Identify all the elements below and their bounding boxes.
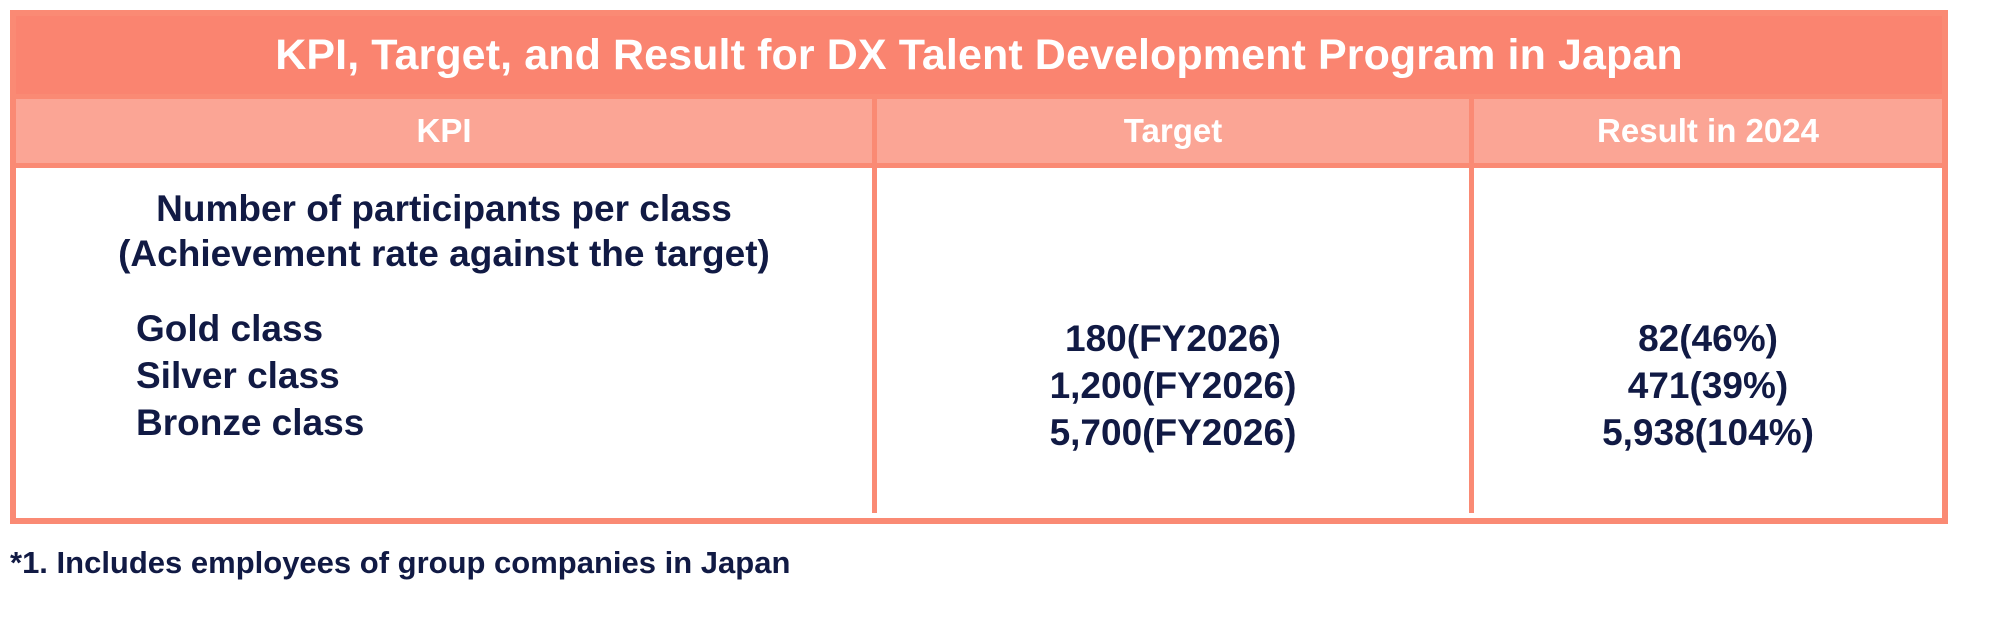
kpi-table-page: KPI, Target, and Result for DX Talent De… bbox=[0, 0, 2000, 622]
kpi-heading: Number of participants per class (Achiev… bbox=[16, 168, 872, 276]
table-title: KPI, Target, and Result for DX Talent De… bbox=[16, 16, 1942, 94]
table-header-row: KPI Target Result in 2024 bbox=[16, 94, 1942, 163]
cell-target: 180(FY2026) 1,200(FY2026) 5,700(FY2026) bbox=[872, 168, 1469, 513]
column-header-kpi: KPI bbox=[16, 99, 872, 163]
kpi-heading-line-1: Number of participants per class bbox=[16, 186, 872, 231]
table-body-row: Number of participants per class (Achiev… bbox=[16, 163, 1942, 513]
class-label-silver: Silver class bbox=[136, 353, 872, 400]
result-value-bronze: 5,938(104%) bbox=[1474, 410, 1942, 457]
column-header-target: Target bbox=[872, 99, 1469, 163]
target-value-gold: 180(FY2026) bbox=[877, 316, 1469, 363]
footnote: *1. Includes employees of group companie… bbox=[10, 545, 790, 581]
result-value-silver: 471(39%) bbox=[1474, 363, 1942, 410]
kpi-table: KPI, Target, and Result for DX Talent De… bbox=[10, 10, 1948, 524]
cell-kpi: Number of participants per class (Achiev… bbox=[16, 168, 872, 513]
class-label-bronze: Bronze class bbox=[136, 400, 872, 447]
target-value-silver: 1,200(FY2026) bbox=[877, 363, 1469, 410]
class-label-gold: Gold class bbox=[136, 306, 872, 353]
cell-result: 82(46%) 471(39%) 5,938(104%) bbox=[1469, 168, 1942, 513]
result-value-list: 82(46%) 471(39%) 5,938(104%) bbox=[1474, 316, 1942, 457]
target-value-list: 180(FY2026) 1,200(FY2026) 5,700(FY2026) bbox=[877, 316, 1469, 457]
class-label-list: Gold class Silver class Bronze class bbox=[16, 306, 872, 447]
kpi-heading-line-2: (Achievement rate against the target) bbox=[16, 231, 872, 276]
column-header-result: Result in 2024 bbox=[1469, 99, 1942, 163]
target-value-bronze: 5,700(FY2026) bbox=[877, 410, 1469, 457]
result-value-gold: 82(46%) bbox=[1474, 316, 1942, 363]
